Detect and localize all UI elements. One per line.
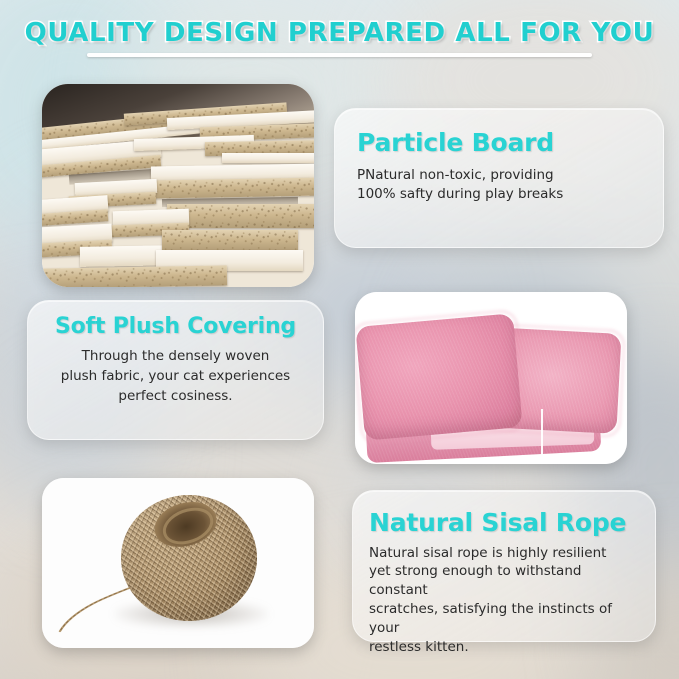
card-soft-plush-covering: Soft Plush Covering Through the densely … [27,300,324,440]
pink-plush-fabric-photo [355,292,627,464]
card-natural-sisal-rope-body: Natural sisal rope is highly resilient y… [369,544,639,657]
card-soft-plush-covering-body: Through the densely woven plush fabric, … [46,347,305,406]
sisal-rope-ball-photo [42,478,314,648]
card-body-line: yet strong enough to withstand constant [369,563,581,598]
card-body-line: restless kitten. [369,639,469,655]
card-body-line: scratches, satisfying the instincts of y… [369,601,612,636]
rope-ball [121,495,257,621]
particle-board-photo [42,84,314,287]
card-body-line: plush fabric, your cat experiences [61,368,290,384]
card-natural-sisal-rope: Natural Sisal Rope Natural sisal rope is… [352,490,656,642]
card-particle-board: Particle Board PNatural non-toxic, provi… [334,108,664,248]
plush-seam-line [541,409,543,464]
header: QUALITY DESIGN PREPARED ALL FOR YOU [0,20,679,57]
card-particle-board-body: PNatural non-toxic, providing 100% safty… [357,166,641,204]
particle-board-scene [42,84,314,287]
card-soft-plush-covering-title: Soft Plush Covering [46,315,305,339]
page-title: QUALITY DESIGN PREPARED ALL FOR YOU [25,20,655,47]
card-body-line: Through the densely woven [82,348,270,364]
title-underline-rule [87,53,592,57]
card-body-line: 100% safty during play breaks [357,186,563,202]
card-body-line: perfect cosiness. [118,388,232,404]
plush-fabric-scene [355,292,627,464]
card-body-line: Natural sisal rope is highly resilient [369,545,606,561]
card-body-line: PNatural non-toxic, providing [357,167,554,183]
sisal-rope-scene [42,478,314,648]
card-natural-sisal-rope-title: Natural Sisal Rope [369,509,639,537]
plush-fold-main [356,313,523,440]
card-particle-board-title: Particle Board [357,129,641,157]
infographic-canvas: QUALITY DESIGN PREPARED ALL FOR YOU [0,0,679,679]
